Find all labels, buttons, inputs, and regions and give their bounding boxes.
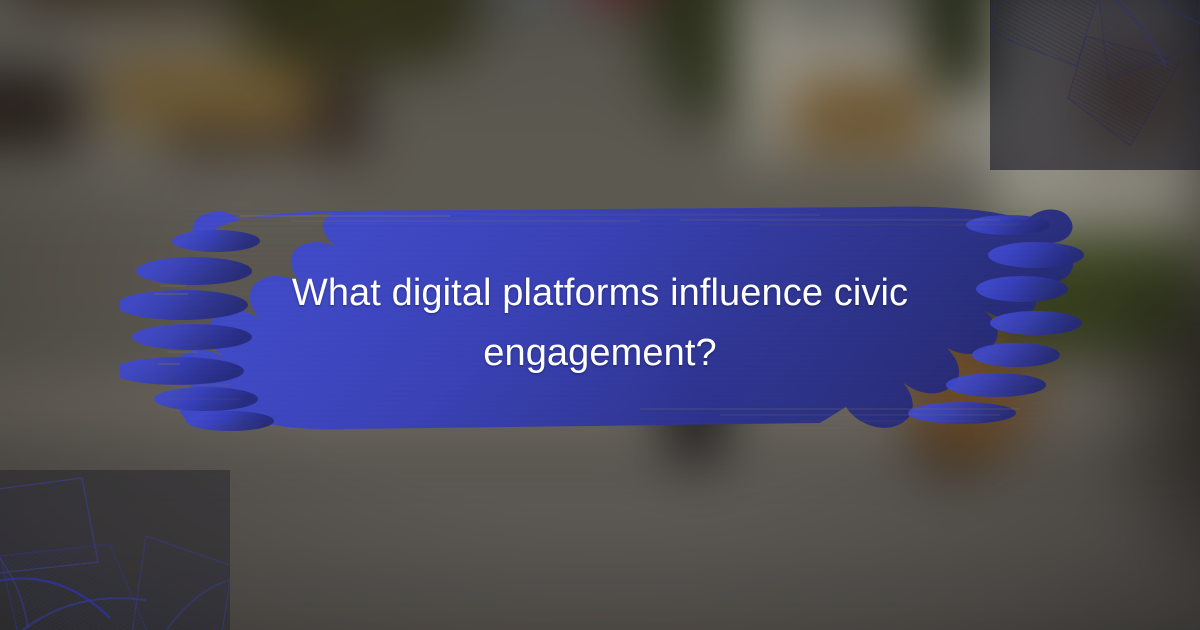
share-card-canvas: What digital platforms influence civic e… — [0, 0, 1200, 630]
page-title: What digital platforms influence civic e… — [0, 263, 1200, 383]
